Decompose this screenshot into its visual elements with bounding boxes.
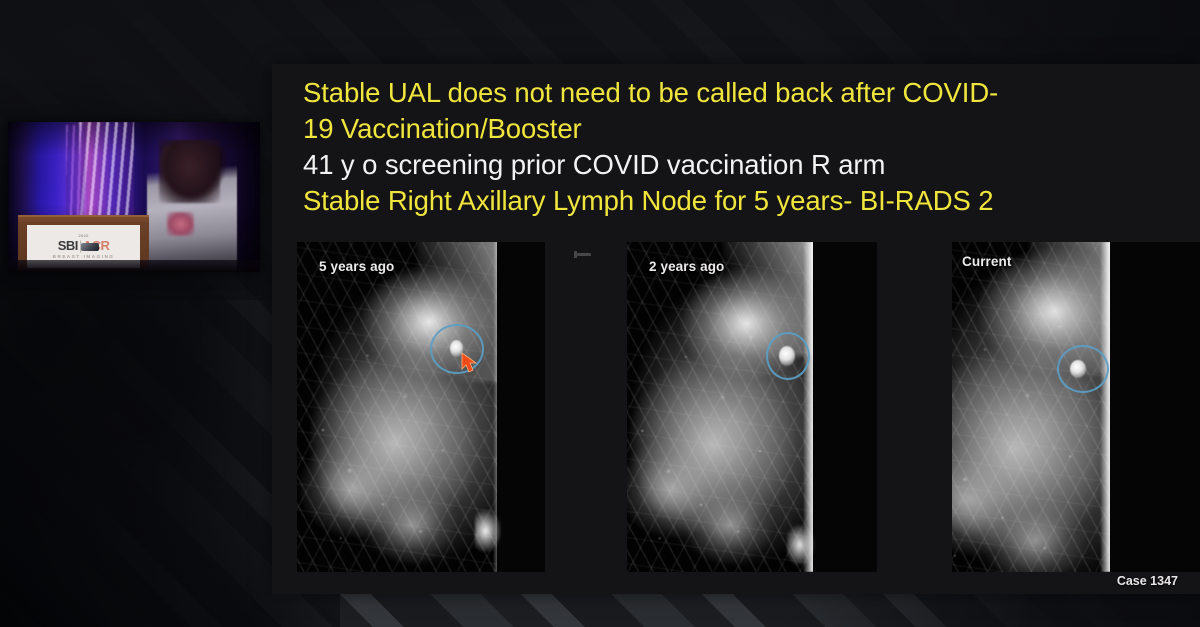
image-corner-marker-icon <box>574 250 591 259</box>
podium-sign-tagline: BREAST IMAGING <box>53 254 115 259</box>
stage-floor <box>8 260 260 272</box>
podium-microphone <box>81 243 99 251</box>
panel-label-current: Current <box>962 254 1011 269</box>
slide-title-line-3: 41 y o screening prior COVID vaccination… <box>303 147 1193 183</box>
slide-title-block: Stable UAL does not need to be called ba… <box>303 75 1193 219</box>
slide-title-line-1: Stable UAL does not need to be called ba… <box>303 75 1193 111</box>
screenshot-stage: 2022 SBI|ACR BREAST IMAGING Stable UAL d… <box>0 0 1200 627</box>
mammogram-5-years-ago[interactable]: 5 years ago <box>297 242 545 572</box>
annotation-circle-current <box>1057 345 1109 393</box>
presentation-slide: Stable UAL does not need to be called ba… <box>272 64 1200 594</box>
mammogram-image-row: 5 years ago 2 years ago <box>272 242 1200 594</box>
slide-title-line-2: 19 Vaccination/Booster <box>303 111 1193 147</box>
mammogram-2-years-ago[interactable]: 2 years ago <box>627 242 877 572</box>
panel-label-2-years-ago: 2 years ago <box>649 259 724 274</box>
speaker-video-thumbnail[interactable]: 2022 SBI|ACR BREAST IMAGING <box>8 122 260 272</box>
skin-fold-marker <box>787 524 815 566</box>
speaker-hand <box>167 212 195 236</box>
panel-dark-margin <box>813 242 877 572</box>
panel-dark-margin <box>497 242 545 572</box>
slide-title-line-4: Stable Right Axillary Lymph Node for 5 y… <box>303 183 1193 219</box>
mammogram-current[interactable]: Current <box>952 242 1200 572</box>
panel-dark-margin <box>1110 242 1200 572</box>
panel-label-5-years-ago: 5 years ago <box>319 259 394 274</box>
podium-sign-brand-primary: SBI <box>58 238 78 253</box>
annotation-circle-2yr <box>766 332 810 380</box>
speaker-hair <box>159 140 219 203</box>
skin-fold-marker <box>475 510 501 552</box>
case-number-label: Case 1347 <box>1117 574 1178 588</box>
